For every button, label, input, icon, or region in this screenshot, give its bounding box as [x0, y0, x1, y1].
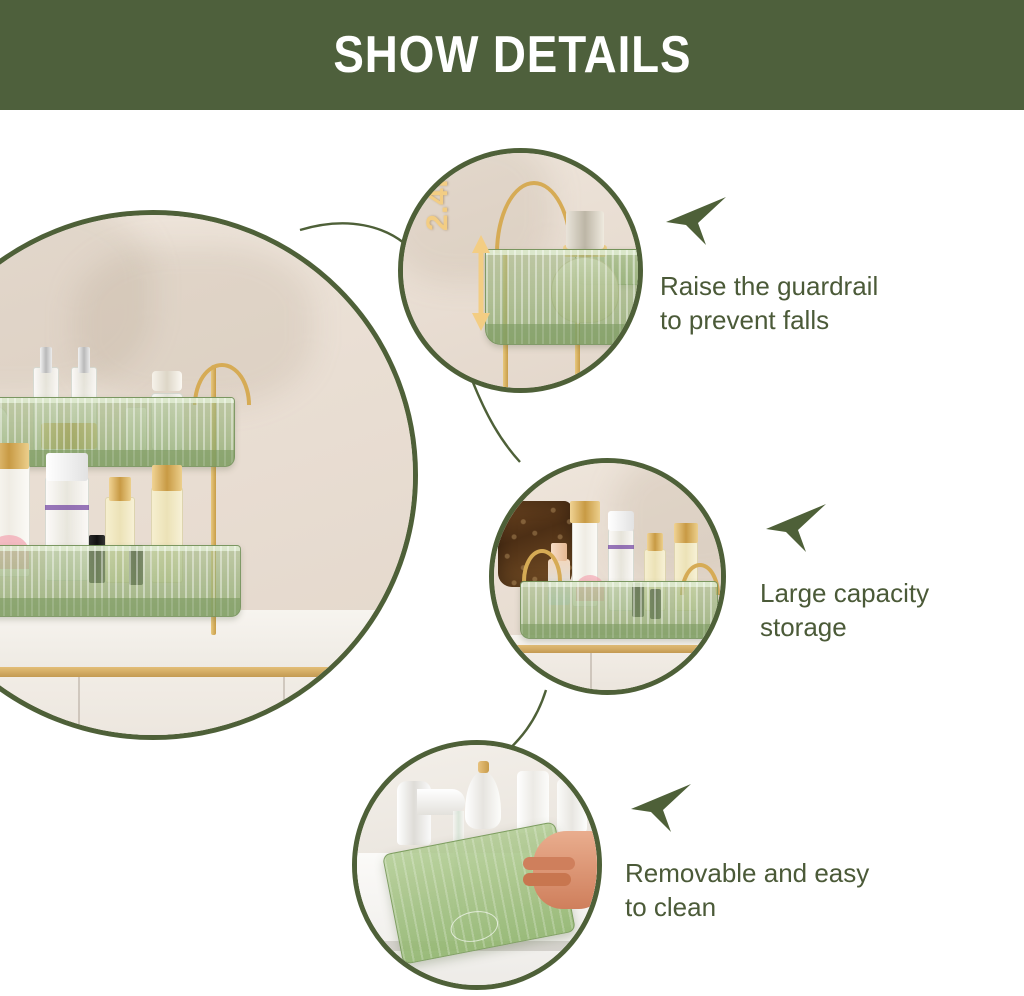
callout-guardrail: Raise the guardrail to prevent falls — [660, 195, 878, 338]
dispenser-bottle — [557, 779, 587, 833]
tray-floor — [521, 624, 717, 638]
bottle-band — [608, 545, 634, 549]
callout-capacity-line2: storage — [760, 610, 929, 644]
wall-shadow — [73, 245, 313, 405]
capacity-photo-scene — [494, 463, 721, 690]
dimension-label: 2.4in — [421, 160, 455, 231]
detail-photo-guardrail: 2.4in — [398, 148, 643, 393]
callout-clean-line1: Removable and easy — [625, 856, 869, 890]
callout-capacity: Large capacity storage — [760, 502, 929, 645]
detail-photo-capacity — [489, 458, 726, 695]
bottle-cap — [0, 443, 29, 469]
callout-clean-line2: to clean — [625, 890, 869, 924]
upper-tray — [0, 397, 235, 467]
callout-capacity-line1: Large capacity — [760, 576, 929, 610]
callout-clean: Removable and easy to clean — [625, 782, 869, 925]
bottle-cap — [152, 371, 182, 391]
cabinet-seam — [283, 677, 285, 735]
clean-photo-scene — [357, 745, 597, 985]
infographic-stage: 2.4in — [0, 110, 1024, 996]
hand — [533, 831, 597, 909]
tray-floor — [0, 598, 240, 616]
counter-gold-trim — [494, 645, 721, 653]
header-banner: SHOW DETAILS — [0, 0, 1024, 110]
bottle-cap — [570, 501, 600, 523]
bottle-cap — [46, 453, 88, 481]
page-title: SHOW DETAILS — [333, 29, 691, 81]
arrow-left-icon — [625, 782, 697, 834]
cabinet-seam — [78, 677, 80, 735]
finger — [523, 873, 571, 886]
finger — [523, 857, 575, 870]
tray-floor — [0, 450, 234, 466]
cabinet-seam — [590, 653, 592, 690]
pump-cap — [674, 523, 698, 543]
bottle-cap — [40, 347, 52, 373]
cabinet-front — [0, 677, 413, 735]
pump-cap — [647, 533, 663, 551]
cabinet-front — [494, 653, 721, 690]
tray-floor — [486, 324, 638, 344]
capacity-tray — [520, 581, 718, 639]
counter-gold-trim — [0, 667, 413, 677]
lower-tray — [0, 545, 241, 617]
dimension-arrow-icon — [472, 235, 490, 331]
pump-cap — [109, 477, 131, 501]
callout-guardrail-line1: Raise the guardrail — [660, 269, 878, 303]
guardrail-tray — [485, 249, 638, 345]
countertop — [0, 610, 413, 670]
bottle-band — [45, 505, 89, 510]
hero-photo-scene — [0, 215, 413, 735]
detail-photo-clean — [352, 740, 602, 990]
callout-guardrail-line2: to prevent falls — [660, 303, 878, 337]
hero-product-photo — [0, 210, 418, 740]
bottle-cap — [566, 211, 604, 249]
bottle-cap — [608, 511, 634, 531]
arrow-left-icon — [760, 502, 832, 554]
pump-cap — [152, 465, 182, 491]
vase-cap — [478, 761, 489, 773]
bottle-cap — [78, 347, 90, 373]
arrow-left-icon — [660, 195, 732, 247]
guardrail-photo-scene: 2.4in — [403, 153, 638, 388]
